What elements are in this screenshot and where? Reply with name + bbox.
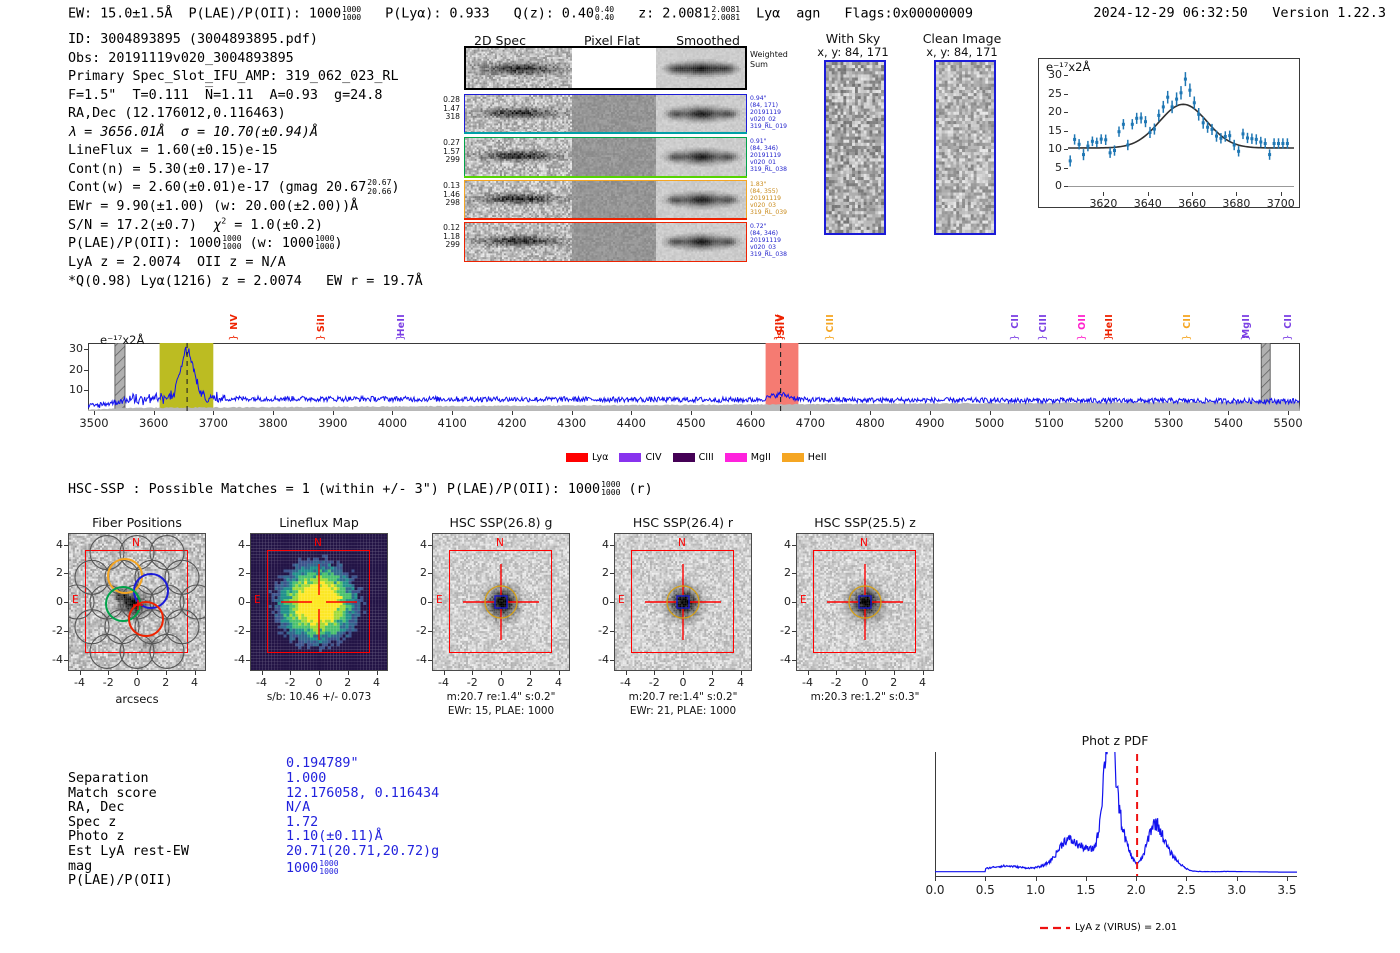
axis-tick-label: 10 bbox=[56, 383, 83, 396]
axis-tick-label: 4200 bbox=[492, 416, 532, 430]
thumb-crosshair-2 bbox=[432, 533, 570, 671]
with-sky-coords: x, y: 84, 171 bbox=[805, 45, 901, 59]
phot-z-pdf-canvas bbox=[935, 752, 1297, 877]
thumb-title-1: Lineflux Map bbox=[226, 515, 412, 530]
match-label-5: Est LyA rest-EW bbox=[68, 845, 189, 860]
axis-tick bbox=[792, 660, 796, 661]
axis-tick-label: -2 bbox=[766, 624, 791, 637]
spec2d-row-3-meta: 1.83"(84, 355)20191119v020_03319_RL_039 bbox=[750, 181, 808, 216]
header-qz: Q(z): 0.40 bbox=[514, 5, 594, 21]
emission-line-label-cii-12: CII bbox=[1283, 314, 1294, 329]
axis-tick bbox=[610, 545, 614, 546]
axis-tick bbox=[64, 545, 68, 546]
axis-tick-label: 0 bbox=[584, 595, 609, 608]
spec2d-row-4[interactable] bbox=[464, 222, 747, 262]
legend-label-heii: HeII bbox=[808, 452, 827, 463]
axis-tick-label: 2 bbox=[402, 566, 427, 579]
legend-swatch-civ bbox=[619, 453, 641, 462]
header-plya: P(Lyα): 0.933 bbox=[385, 5, 489, 21]
axis-tick bbox=[985, 877, 986, 881]
axis-tick bbox=[392, 411, 393, 415]
match-label-4: Photo z bbox=[68, 830, 124, 845]
axis-tick bbox=[610, 631, 614, 632]
legend-swatch-heii bbox=[782, 453, 804, 462]
axis-tick bbox=[262, 671, 263, 675]
axis-tick-label: 5500 bbox=[1268, 416, 1308, 430]
info-lineflux: LineFlux = 1.60(±0.15)e-15 bbox=[68, 142, 423, 161]
axis-tick bbox=[319, 671, 320, 675]
thumb-xlabel-0: arcsecs bbox=[48, 692, 226, 706]
axis-tick bbox=[1064, 112, 1068, 113]
axis-tick bbox=[836, 671, 837, 675]
axis-tick-label: -2 bbox=[584, 624, 609, 637]
axis-tick-label: 3900 bbox=[313, 416, 353, 430]
cell-smoothed bbox=[656, 138, 746, 176]
match-value-2: 12.176058, 0.116434 bbox=[286, 787, 439, 802]
axis-tick bbox=[870, 411, 871, 415]
axis-tick bbox=[137, 671, 138, 675]
axis-tick-label: -4 bbox=[402, 653, 427, 666]
axis-tick bbox=[428, 602, 432, 603]
axis-tick-label: 4500 bbox=[671, 416, 711, 430]
axis-tick-label: 0 bbox=[766, 595, 791, 608]
axis-tick bbox=[195, 671, 196, 675]
axis-tick-label: 0 bbox=[220, 595, 245, 608]
axis-tick-label: 2 bbox=[584, 566, 609, 579]
axis-tick bbox=[64, 660, 68, 661]
axis-tick-label: 3700 bbox=[193, 416, 233, 430]
info-id: ID: 3004893895 (3004893895.pdf) bbox=[68, 31, 423, 50]
cell-smoothed bbox=[656, 48, 745, 88]
thumb-title-2: HSC SSP(26.8) g bbox=[408, 515, 594, 530]
legend-label-lyα: Lyα bbox=[592, 452, 608, 463]
cell-pixelflat bbox=[572, 95, 656, 133]
info-ewr: EWr = 9.90(±1.00) (w: 20.00(±2.00))Å bbox=[68, 198, 423, 217]
info-primary-slot: Primary Spec_Slot_IFU_AMP: 319_062_023_R… bbox=[68, 68, 423, 87]
axis-tick-label: 3620 bbox=[1085, 197, 1121, 210]
axis-tick bbox=[246, 602, 250, 603]
axis-tick bbox=[930, 411, 931, 415]
axis-tick bbox=[166, 671, 167, 675]
emission-line-bracket-2: { bbox=[395, 334, 406, 340]
axis-tick bbox=[751, 411, 752, 415]
info-radec: RA,Dec (12.176012,0.116463) bbox=[68, 105, 423, 124]
spec2d-row-3[interactable] bbox=[464, 180, 747, 220]
axis-tick-label: 4800 bbox=[850, 416, 890, 430]
spec2d-row-1-meta: 0.94"(84, 171)20191119v020_02319_RL_019 bbox=[750, 95, 808, 130]
axis-tick bbox=[741, 671, 742, 675]
legend-item-heii: HeII bbox=[782, 452, 827, 463]
axis-tick bbox=[444, 671, 445, 675]
legend-label-civ: CIV bbox=[645, 452, 661, 463]
plae-fraction-2: 10001000 bbox=[315, 235, 334, 251]
emission-line-bracket-9: { bbox=[1103, 334, 1114, 340]
clean-image[interactable] bbox=[934, 60, 996, 235]
axis-tick bbox=[348, 671, 349, 675]
axis-tick-label: 2 bbox=[38, 566, 63, 579]
match-label-2: RA, Dec bbox=[68, 801, 124, 816]
header-class-agn: agn bbox=[796, 5, 820, 21]
axis-tick bbox=[1228, 411, 1229, 415]
axis-tick bbox=[472, 671, 473, 675]
spec2d-row-2[interactable] bbox=[464, 137, 747, 177]
axis-tick-label: 3800 bbox=[253, 416, 293, 430]
axis-tick bbox=[428, 631, 432, 632]
plae-fraction-1: 10001000 bbox=[222, 235, 241, 251]
axis-tick bbox=[1064, 186, 1068, 187]
axis-tick-label: -4 bbox=[766, 653, 791, 666]
header-redshift-fraction: 2.00812.0081 bbox=[711, 5, 740, 22]
timestamp-text: 2024-12-29 06:32:50 bbox=[1093, 5, 1247, 21]
axis-tick bbox=[428, 660, 432, 661]
header-plae-label: P(LAE)/P(OII): bbox=[188, 5, 300, 21]
header-qz-fraction: 0.400.40 bbox=[595, 5, 614, 22]
thumb-crosshair-1 bbox=[250, 533, 388, 671]
axis-tick bbox=[792, 545, 796, 546]
match-label-1: Match score bbox=[68, 787, 157, 802]
axis-tick-label: -4 bbox=[220, 653, 245, 666]
axis-tick-label: 4000 bbox=[372, 416, 412, 430]
legend-swatch-mgii bbox=[725, 453, 747, 462]
info-lambda-sigma: λ = 3656.01Å σ = 10.70(±0.94)Å bbox=[68, 124, 423, 143]
axis-tick bbox=[1148, 192, 1149, 196]
axis-tick-label: 10 bbox=[1036, 142, 1062, 155]
axis-tick-label: 5200 bbox=[1089, 416, 1129, 430]
axis-tick bbox=[810, 411, 811, 415]
legend-item-lyα: Lyα bbox=[566, 452, 608, 463]
spec2d-row-weighted-sum bbox=[464, 46, 747, 90]
emission-line-bracket-6: { bbox=[1037, 334, 1048, 340]
axis-tick bbox=[1169, 411, 1170, 415]
axis-tick bbox=[108, 671, 109, 675]
emission-line-label-heii-9: HeII bbox=[1104, 314, 1115, 336]
axis-tick bbox=[84, 390, 88, 391]
axis-tick bbox=[1103, 192, 1104, 196]
axis-tick bbox=[246, 573, 250, 574]
legend-swatch-lyα bbox=[566, 453, 588, 462]
legend-item-civ: CIV bbox=[619, 452, 661, 463]
axis-tick bbox=[1192, 192, 1193, 196]
match-value-1: 1.000 bbox=[286, 772, 326, 787]
phot-z-pdf-legend-label: LyA z (VIRUS) = 2.01 bbox=[1075, 922, 1177, 933]
axis-tick-label: -4 bbox=[38, 653, 63, 666]
axis-tick bbox=[512, 411, 513, 415]
axis-tick bbox=[792, 631, 796, 632]
axis-tick bbox=[808, 671, 809, 675]
axis-tick bbox=[631, 411, 632, 415]
axis-tick-label: 3640 bbox=[1130, 197, 1166, 210]
axis-tick-label: 3500 bbox=[74, 416, 114, 430]
emission-line-label-civ-7: CIV bbox=[774, 314, 785, 333]
emission-line-label-heii-2: HeII bbox=[396, 314, 407, 336]
axis-tick-label: 5300 bbox=[1149, 416, 1189, 430]
spectrum-legend: LyαCIVCIIIMgIIHeII bbox=[566, 452, 827, 463]
with-sky-image[interactable] bbox=[824, 60, 886, 235]
axis-tick bbox=[1288, 411, 1289, 415]
axis-tick bbox=[626, 671, 627, 675]
axis-tick bbox=[1064, 168, 1068, 169]
axis-tick-label: 2 bbox=[766, 566, 791, 579]
spectrum-flux-unit: e⁻¹⁷x2Å bbox=[100, 333, 144, 347]
hsc-plae-fraction: 10001000 bbox=[601, 481, 620, 497]
phot-z-pdf-plot[interactable] bbox=[935, 752, 1297, 877]
cell-2dspec bbox=[466, 48, 572, 88]
phot-z-pdf-legend: LyA z (VIRUS) = 2.01 bbox=[1040, 922, 1177, 933]
axis-tick-label: 2.5 bbox=[1166, 883, 1206, 897]
axis-tick-label: 4 bbox=[905, 676, 941, 689]
axis-tick bbox=[1186, 877, 1187, 881]
emission-line-bracket-4: { bbox=[823, 334, 834, 340]
axis-tick-label: 3660 bbox=[1174, 197, 1210, 210]
hsc-text: HSC-SSP : Possible Matches = 1 (within +… bbox=[68, 482, 600, 497]
axis-tick-label: 20 bbox=[1036, 105, 1062, 118]
dashed-line-icon bbox=[1040, 924, 1070, 932]
axis-tick-label: 30 bbox=[1036, 68, 1062, 81]
line-profile-plot[interactable]: e⁻¹⁷x2Å bbox=[1038, 58, 1300, 208]
emission-line-bracket-7: { bbox=[772, 334, 783, 340]
axis-tick bbox=[1237, 877, 1238, 881]
axis-tick bbox=[990, 411, 991, 415]
axis-tick-label: 0 bbox=[1036, 179, 1062, 192]
thumb-caption1-2: m:20.7 re:1.4" s:0.2" bbox=[410, 691, 592, 703]
cell-smoothed bbox=[656, 223, 746, 261]
axis-tick bbox=[923, 671, 924, 675]
axis-tick bbox=[792, 573, 796, 574]
match-label-7: P(LAE)/P(OII) bbox=[68, 874, 173, 889]
emission-line-label-oii-8: OII bbox=[1077, 314, 1088, 330]
axis-tick-label: -2 bbox=[38, 624, 63, 637]
axis-tick bbox=[1236, 192, 1237, 196]
emission-line-label-cii-10: CII bbox=[1182, 314, 1193, 329]
axis-tick bbox=[610, 602, 614, 603]
thumb-caption2-2: EWr: 15, PLAE: 1000 bbox=[410, 705, 592, 717]
info-sn-chi2: S/N = 17.2(±0.7) χ2 = 1.0(±0.2) bbox=[68, 217, 423, 236]
emission-line-bracket-0: { bbox=[228, 334, 239, 340]
axis-tick-label: 4100 bbox=[432, 416, 472, 430]
match-value-5: 1.10(±0.11)Å bbox=[286, 830, 383, 845]
axis-tick-label: 3680 bbox=[1218, 197, 1254, 210]
axis-tick-label: 15 bbox=[1036, 124, 1062, 137]
info-cont-narrow: Cont(n) = 5.30(±0.17)e-17 bbox=[68, 161, 423, 180]
axis-tick bbox=[501, 671, 502, 675]
axis-tick bbox=[273, 411, 274, 415]
emission-line-label-cii-5: CII bbox=[1010, 314, 1021, 329]
axis-tick bbox=[683, 671, 684, 675]
axis-tick bbox=[1064, 131, 1068, 132]
axis-tick bbox=[610, 573, 614, 574]
spec2d-row-1[interactable] bbox=[464, 94, 747, 134]
axis-tick-label: 3.0 bbox=[1217, 883, 1257, 897]
axis-tick bbox=[84, 349, 88, 350]
match-value-0: 0.194789" bbox=[286, 757, 359, 772]
match-label-6: mag bbox=[68, 860, 92, 875]
axis-tick-label: 4 bbox=[177, 676, 213, 689]
axis-tick-label: 4 bbox=[359, 676, 395, 689]
phot-z-pdf-title: Phot z PDF bbox=[1035, 733, 1195, 748]
axis-tick bbox=[610, 660, 614, 661]
header-plae-fraction: 10001000 bbox=[342, 5, 361, 22]
cell-pixelflat bbox=[572, 48, 656, 88]
axis-tick bbox=[64, 573, 68, 574]
cell-smoothed bbox=[656, 95, 746, 133]
axis-tick-label: 4300 bbox=[552, 416, 592, 430]
cell-pixelflat bbox=[572, 181, 656, 219]
axis-tick-label: -2 bbox=[220, 624, 245, 637]
axis-tick bbox=[333, 411, 334, 415]
emission-line-bracket-5: { bbox=[1009, 334, 1020, 340]
match-value-6: 20.71(20.71,20.72)g bbox=[286, 845, 439, 860]
thumb-caption1-1: s/b: 10.46 +/- 0.073 bbox=[228, 691, 410, 703]
axis-tick-label: 0.0 bbox=[915, 883, 955, 897]
gmag-fraction: 20.6720.66 bbox=[367, 179, 391, 195]
axis-tick bbox=[865, 671, 866, 675]
axis-tick-label: 20 bbox=[56, 363, 83, 376]
axis-tick-label: 5100 bbox=[1029, 416, 1069, 430]
axis-tick bbox=[712, 671, 713, 675]
axis-tick bbox=[1036, 877, 1037, 881]
axis-tick bbox=[154, 411, 155, 415]
spec2d-row-3-stats: 0.131.46298 bbox=[432, 182, 460, 208]
legend-item-ciii: CIII bbox=[673, 452, 714, 463]
spec2d-row-4-meta: 0.72"(84, 346)20191119v020_03319_RL_038 bbox=[750, 223, 808, 258]
clean-image-title: Clean Image bbox=[912, 31, 1012, 46]
axis-tick bbox=[1086, 877, 1087, 881]
thumb-title-3: HSC SSP(26.4) r bbox=[590, 515, 776, 530]
cell-smoothed bbox=[656, 181, 746, 219]
legend-item-mgii: MgII bbox=[725, 452, 771, 463]
emission-line-label-nv-0: NV bbox=[229, 314, 240, 330]
match-label-3: Spec z bbox=[68, 816, 116, 831]
thumb-caption1-3: m:20.7 re:1.4" s:0.2" bbox=[592, 691, 774, 703]
axis-tick-label: -4 bbox=[584, 653, 609, 666]
axis-tick-label: 0 bbox=[38, 595, 63, 608]
axis-tick-label: 4700 bbox=[790, 416, 830, 430]
axis-tick-label: 30 bbox=[56, 342, 83, 355]
thumb-title-4: HSC SSP(25.5) z bbox=[772, 515, 958, 530]
axis-tick-label: 5 bbox=[1036, 161, 1062, 174]
axis-tick-label: 1.5 bbox=[1066, 883, 1106, 897]
info-obs: Obs: 20191119v020_3004893895 bbox=[68, 50, 423, 69]
axis-tick bbox=[1281, 192, 1282, 196]
axis-tick-label: 4900 bbox=[910, 416, 950, 430]
clean-image-coords: x, y: 84, 171 bbox=[914, 45, 1010, 59]
spec2d-row-2-meta: 0.91"(84, 346)20191119v020_01319_RL_038 bbox=[750, 138, 808, 173]
axis-tick-label: 3700 bbox=[1263, 197, 1299, 210]
emission-line-bracket-1: { bbox=[315, 334, 326, 340]
info-cont-wide: Cont(w) = 2.60(±0.01)e-17 (gmag 20.6720.… bbox=[68, 179, 423, 198]
emission-line-bracket-11: { bbox=[1240, 334, 1251, 340]
hsc-filter: (r) bbox=[620, 482, 652, 497]
info-fit-params: F=1.5" T=0.111 N̅=1.11 A=0.93 g=24.8 bbox=[68, 87, 423, 106]
weighted-sum-label: WeightedSum bbox=[750, 50, 798, 69]
emission-line-bracket-12: { bbox=[1282, 334, 1293, 340]
emission-line-bracket-8: { bbox=[1076, 334, 1087, 340]
info-quality-line: *Q(0.98) Lyα(1216) z = 2.0074 EW r = 19.… bbox=[68, 273, 423, 292]
axis-tick-label: 0.5 bbox=[965, 883, 1005, 897]
emission-line-label-ciii-6: CIII bbox=[1038, 314, 1049, 333]
axis-tick bbox=[1049, 411, 1050, 415]
object-info-block: ID: 3004893895 (3004893895.pdf) Obs: 201… bbox=[68, 31, 423, 291]
axis-tick-label: 3600 bbox=[134, 416, 174, 430]
axis-tick-label: -2 bbox=[402, 624, 427, 637]
header-redshift: z: 2.0081 bbox=[638, 5, 710, 21]
axis-tick bbox=[94, 411, 95, 415]
header-ew: EW: 15.0±1.5Å bbox=[68, 5, 172, 21]
axis-tick-label: 4 bbox=[38, 538, 63, 551]
spec2d-row-2-stats: 0.271.57299 bbox=[432, 139, 460, 165]
cell-2dspec bbox=[465, 138, 572, 176]
axis-tick-label: 4 bbox=[402, 538, 427, 551]
spectrum-canvas bbox=[88, 343, 1300, 411]
cell-2dspec bbox=[465, 95, 572, 133]
thumb-crosshair-3 bbox=[614, 533, 752, 671]
fiber-overlay bbox=[68, 533, 206, 671]
axis-tick bbox=[935, 877, 936, 881]
thumb-crosshair-4 bbox=[796, 533, 934, 671]
match-value-7: 100010001000 bbox=[286, 860, 339, 877]
fitplot-canvas bbox=[1038, 58, 1300, 208]
header-plae-value: 1000 bbox=[309, 5, 341, 21]
axis-tick bbox=[559, 671, 560, 675]
version-text: Version 1.22.3 bbox=[1272, 5, 1386, 21]
axis-tick bbox=[792, 602, 796, 603]
axis-tick bbox=[84, 370, 88, 371]
legend-label-ciii: CIII bbox=[699, 452, 714, 463]
axis-tick-label: 4600 bbox=[731, 416, 771, 430]
axis-tick bbox=[246, 631, 250, 632]
match-plae-fraction: 10001000 bbox=[319, 860, 338, 876]
axis-tick-label: 3.5 bbox=[1267, 883, 1307, 897]
legend-label-mgii: MgII bbox=[751, 452, 771, 463]
axis-tick bbox=[377, 671, 378, 675]
axis-tick-label: 4 bbox=[220, 538, 245, 551]
spec2d-divider-2 bbox=[464, 176, 747, 178]
axis-tick bbox=[654, 671, 655, 675]
spec2d-divider-3 bbox=[464, 218, 747, 220]
thumb-title-0: Fiber Positions bbox=[44, 515, 230, 530]
with-sky-title: With Sky bbox=[812, 31, 894, 46]
hsc-ssp-match-line: HSC-SSP : Possible Matches = 1 (within +… bbox=[68, 481, 653, 497]
axis-tick bbox=[428, 545, 432, 546]
spec2d-row-1-stats: 0.281.47318 bbox=[432, 96, 460, 122]
axis-tick-label: 4 bbox=[766, 538, 791, 551]
cell-pixelflat bbox=[572, 138, 656, 176]
axis-tick-label: 4 bbox=[584, 538, 609, 551]
emission-line-bracket-10: { bbox=[1180, 334, 1191, 340]
axis-tick bbox=[1064, 94, 1068, 95]
axis-tick-label: 4 bbox=[723, 676, 759, 689]
axis-tick bbox=[246, 660, 250, 661]
axis-tick bbox=[1287, 877, 1288, 881]
axis-tick bbox=[530, 671, 531, 675]
axis-tick-label: 25 bbox=[1036, 87, 1062, 100]
thumb-caption1-4: m:20.3 re:1.2" s:0.3" bbox=[774, 691, 956, 703]
spec2d-row-4-stats: 0.121.18299 bbox=[432, 224, 460, 250]
axis-tick bbox=[290, 671, 291, 675]
info-plae: P(LAE)/P(OII): 100010001000 (w: 10001000… bbox=[68, 235, 423, 254]
axis-tick bbox=[428, 573, 432, 574]
axis-tick bbox=[246, 545, 250, 546]
legend-swatch-ciii bbox=[673, 453, 695, 462]
axis-tick bbox=[572, 411, 573, 415]
axis-tick bbox=[1064, 75, 1068, 76]
axis-tick bbox=[1109, 411, 1110, 415]
axis-tick bbox=[894, 671, 895, 675]
header-timestamp-version: 2024-12-29 06:32:50 Version 1.22.3 bbox=[1093, 5, 1386, 21]
axis-tick-label: 1.0 bbox=[1016, 883, 1056, 897]
axis-tick-label: 0 bbox=[402, 595, 427, 608]
full-spectrum-plot[interactable] bbox=[88, 343, 1300, 411]
